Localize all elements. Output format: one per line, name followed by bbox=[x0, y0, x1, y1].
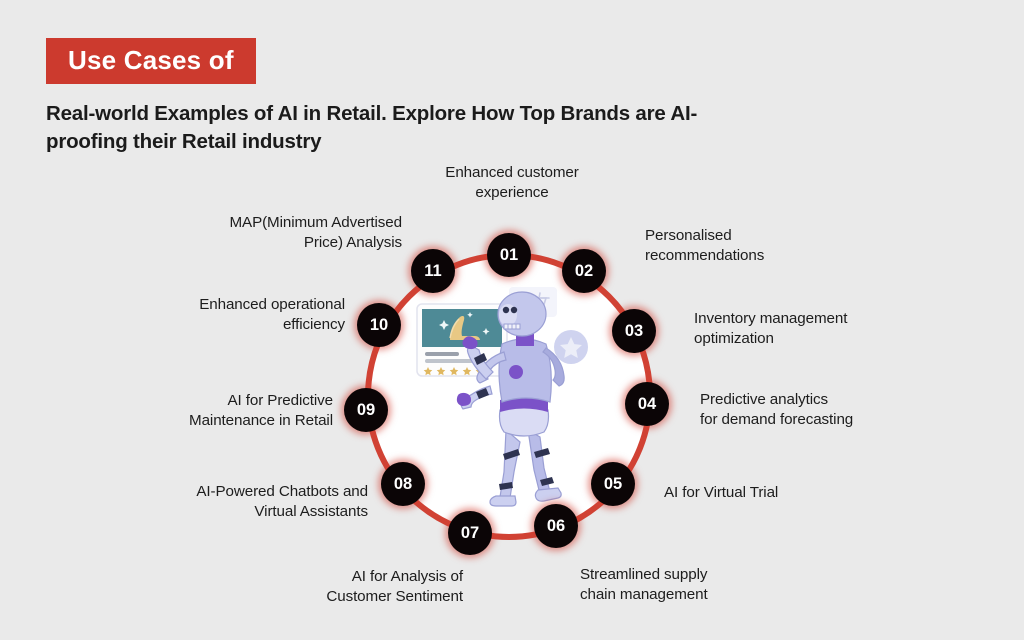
star-badge bbox=[554, 330, 588, 364]
ai-retail-robot-illustration bbox=[404, 282, 620, 514]
node-02[interactable]: 02 bbox=[562, 249, 606, 293]
node-01[interactable]: 01 bbox=[487, 233, 531, 277]
node-label-04: Predictive analytics for demand forecast… bbox=[700, 390, 910, 431]
node-label-05: AI for Virtual Trial bbox=[664, 483, 864, 503]
node-08[interactable]: 08 bbox=[381, 462, 425, 506]
node-09[interactable]: 09 bbox=[344, 388, 388, 432]
node-label-10: Enhanced operational efficiency bbox=[133, 295, 345, 336]
node-03[interactable]: 03 bbox=[612, 309, 656, 353]
node-label-11: MAP(Minimum Advertised Price) Analysis bbox=[159, 213, 402, 254]
node-label-09: AI for Predictive Maintenance in Retail bbox=[133, 391, 333, 432]
node-04[interactable]: 04 bbox=[625, 382, 669, 426]
node-10[interactable]: 10 bbox=[357, 303, 401, 347]
node-label-06: Streamlined supply chain management bbox=[580, 565, 780, 606]
node-label-07: AI for Analysis of Customer Sentiment bbox=[283, 567, 463, 608]
node-label-01: Enhanced customer experience bbox=[427, 163, 597, 204]
node-11[interactable]: 11 bbox=[411, 249, 455, 293]
circular-diagram: 01Enhanced customer experience02Personal… bbox=[0, 0, 1024, 640]
node-label-08: AI-Powered Chatbots and Virtual Assistan… bbox=[133, 482, 368, 523]
node-07[interactable]: 07 bbox=[448, 511, 492, 555]
node-label-03: Inventory management optimization bbox=[694, 309, 904, 350]
node-label-02: Personalised recommendations bbox=[645, 226, 845, 267]
node-06[interactable]: 06 bbox=[534, 504, 578, 548]
node-05[interactable]: 05 bbox=[591, 462, 635, 506]
